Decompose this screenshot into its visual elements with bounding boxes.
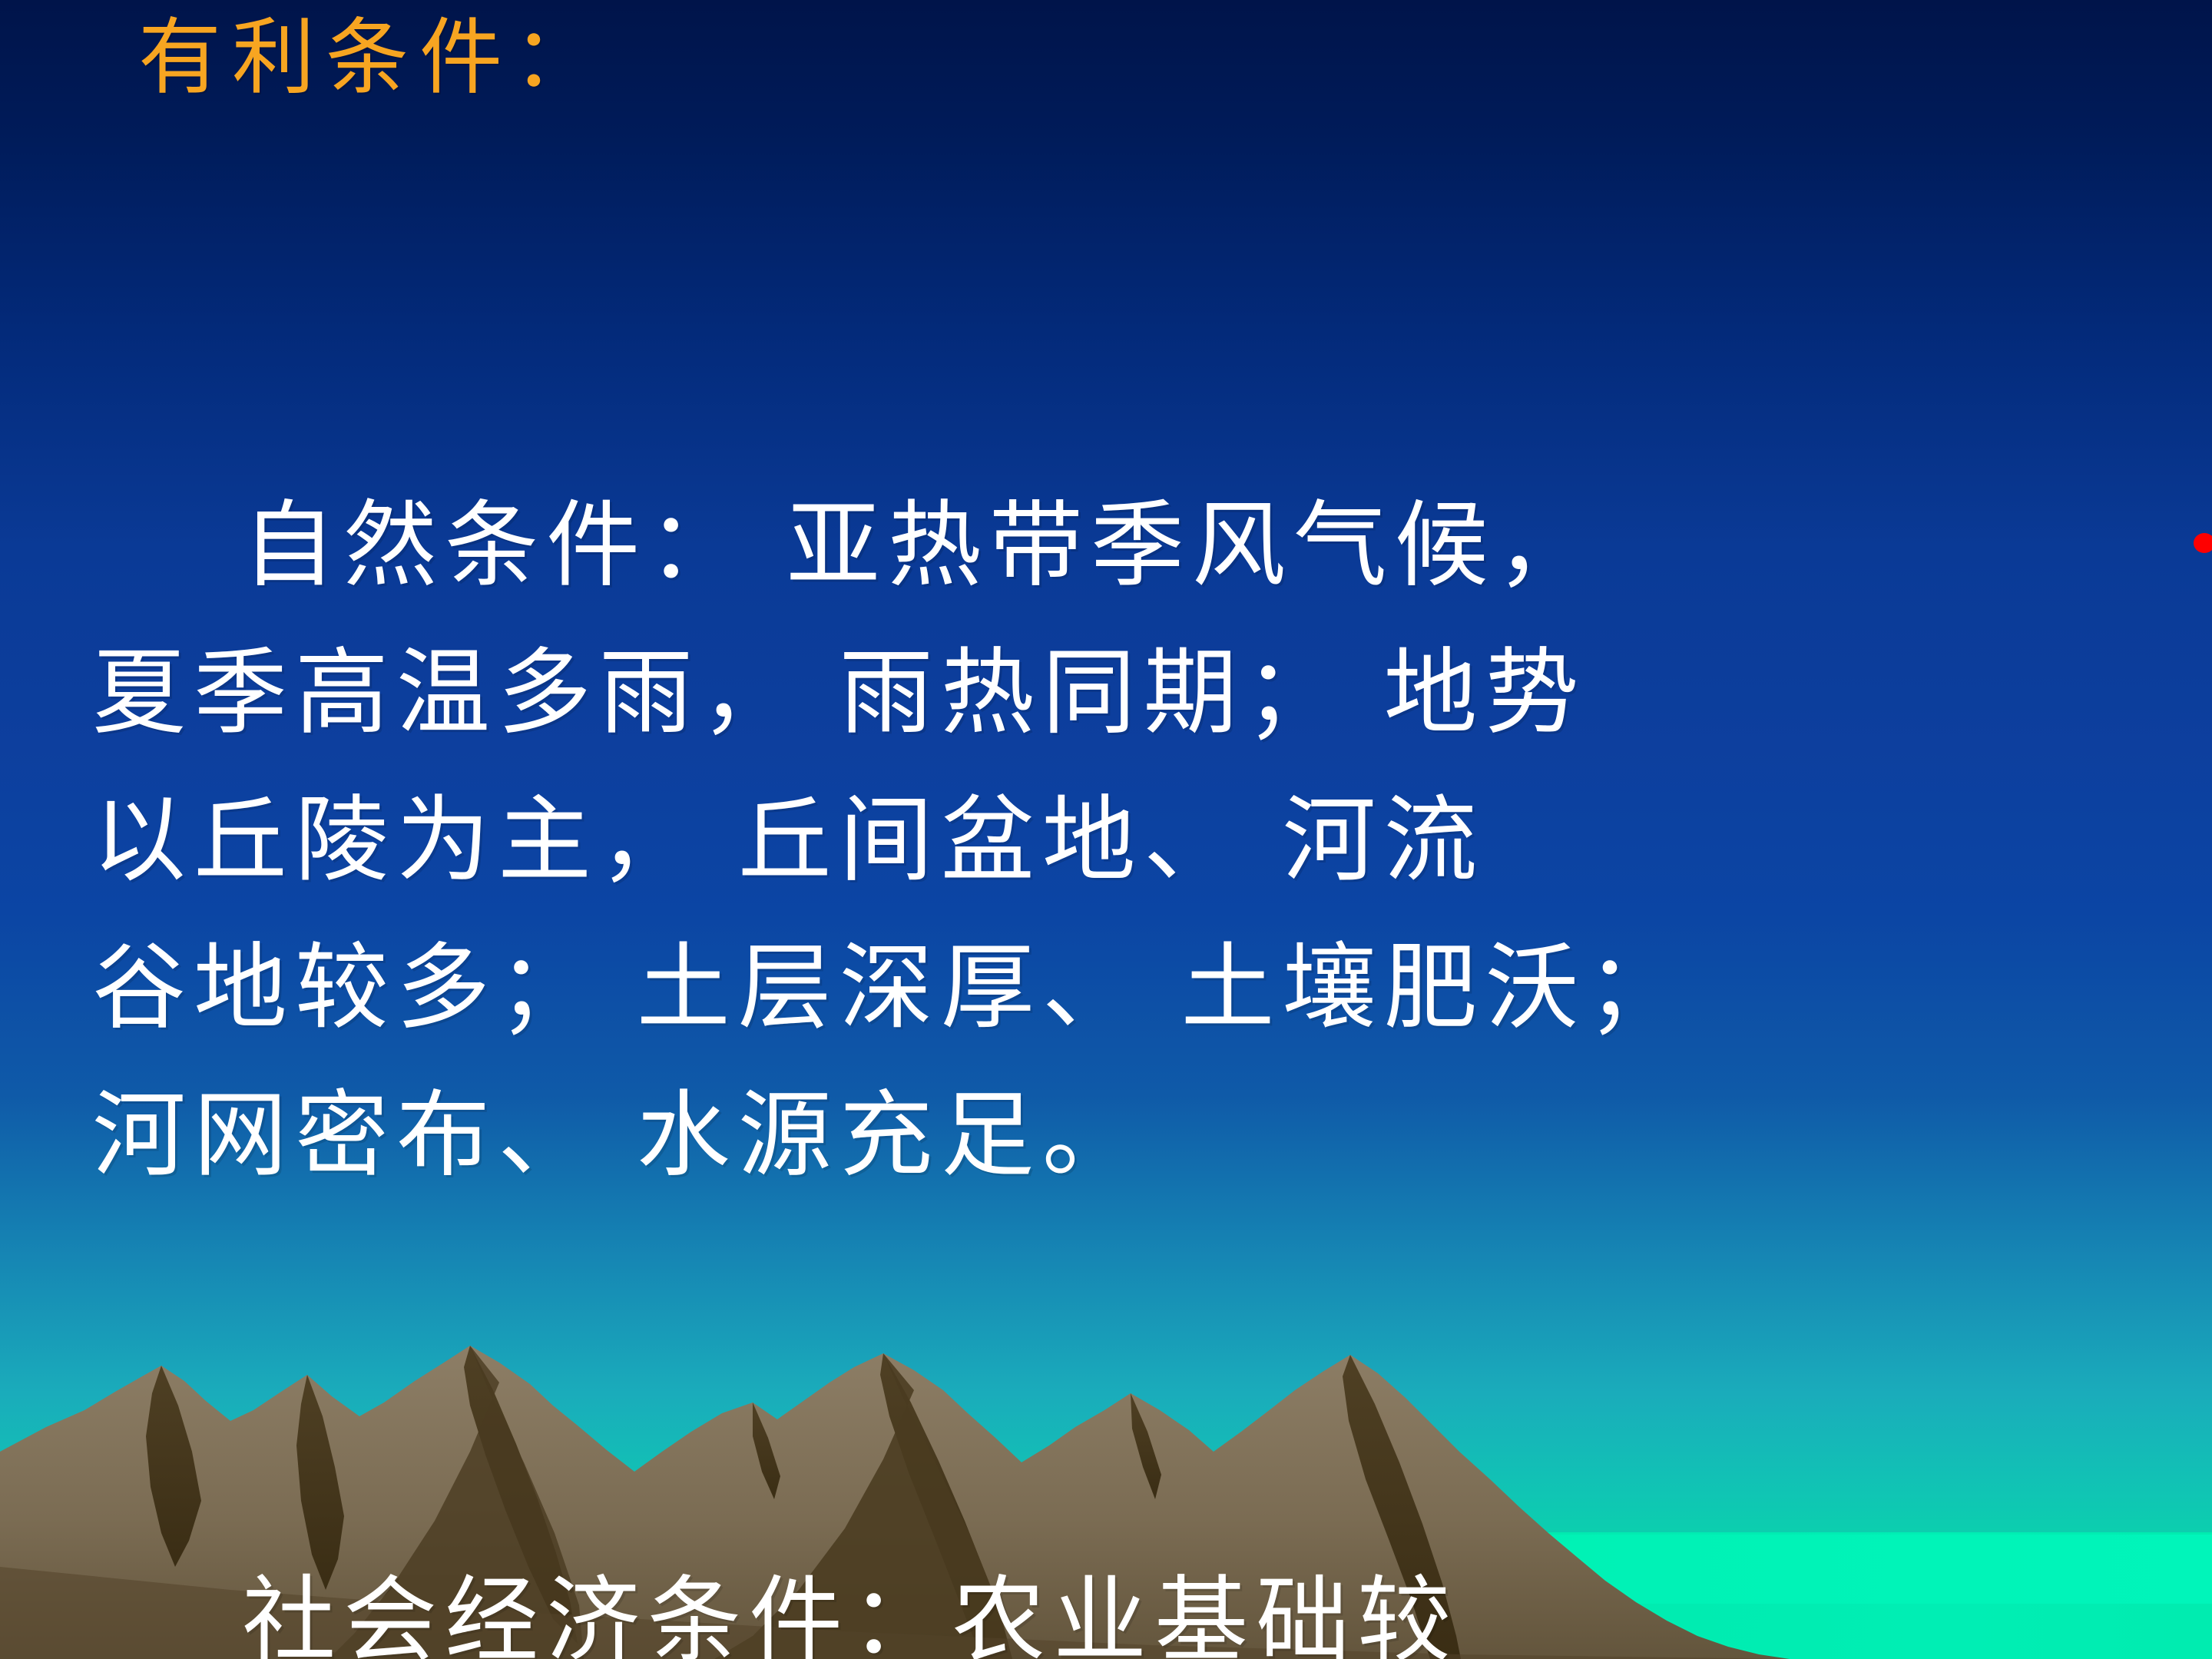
- paragraph-socioeconomic-conditions: 社会经济条件：农业基础较 好， 有较便利发达的交通条件 ； 丰富、廉价的劳动力；…: [92, 1547, 2166, 1659]
- laser-pointer-dot: [2194, 533, 2212, 553]
- slide-title: 有利条件：: [138, 11, 607, 106]
- paragraph-natural-conditions: 自然条件： 亚热带季风气候， 夏季高温多雨， 雨热同期； 地势 以丘陵为主， 丘…: [92, 472, 2166, 1209]
- presentation-slide: 有利条件： 自然条件： 亚热带季风气候， 夏季高温多雨， 雨热同期； 地势 以丘…: [0, 0, 2212, 1659]
- slide-body: 自然条件： 亚热带季风气候， 夏季高温多雨， 雨热同期； 地势 以丘陵为主， 丘…: [92, 177, 2166, 1659]
